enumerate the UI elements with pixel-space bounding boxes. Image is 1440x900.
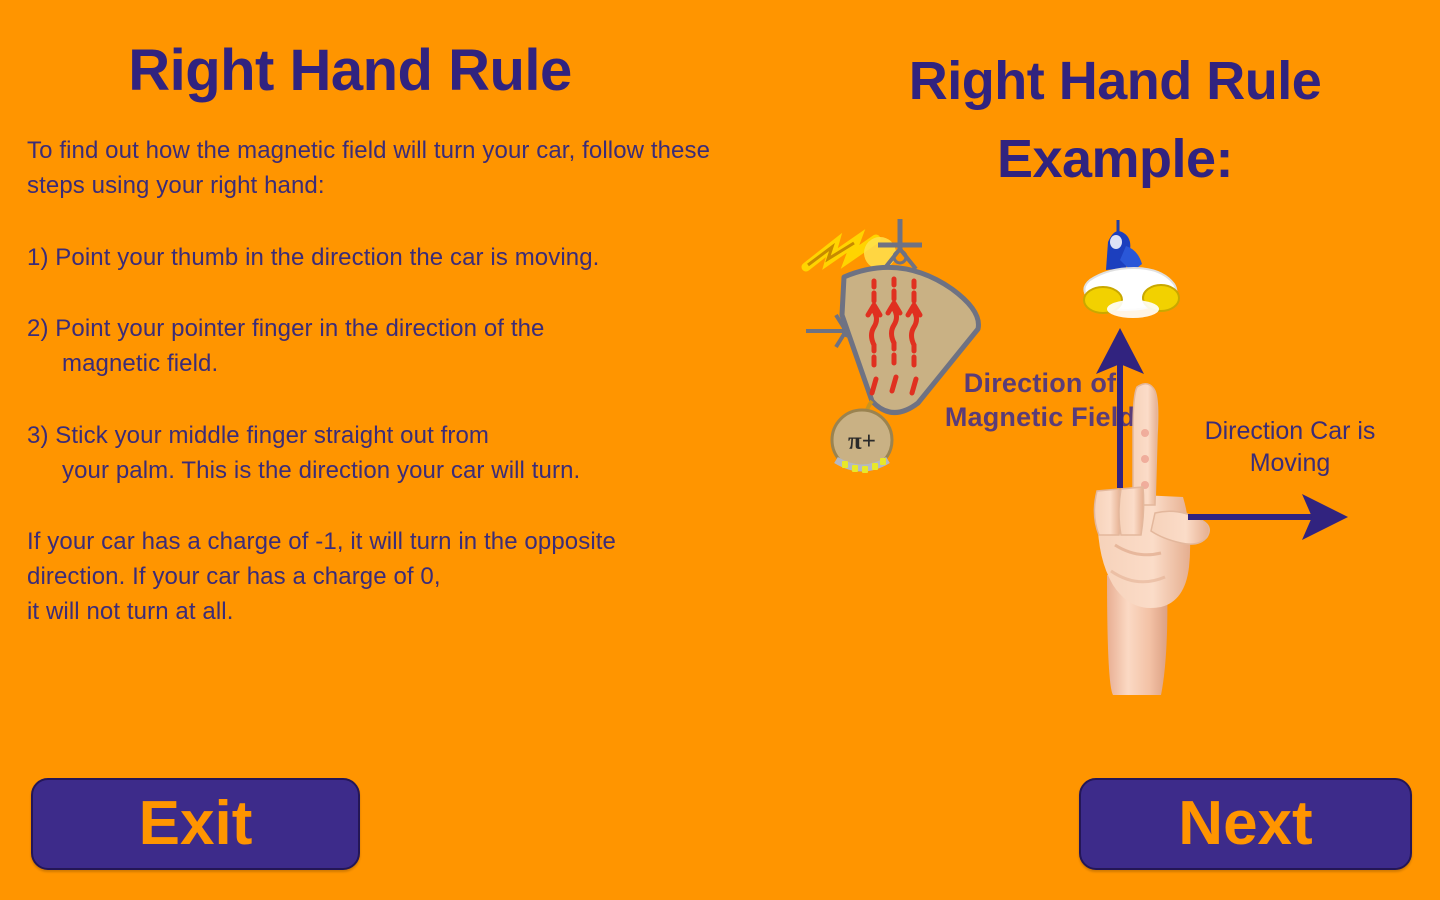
step-item-2: 2) Point your pointer finger in the dire… xyxy=(27,311,767,381)
car-direction-label-line2: Moving xyxy=(1175,447,1405,479)
car-direction-arrow xyxy=(1188,492,1348,542)
exit-button[interactable]: Exit xyxy=(31,778,360,870)
step-item-3: 3) Stick your middle finger straight out… xyxy=(27,418,767,488)
example-panel: Right Hand Rule Example: xyxy=(790,0,1440,760)
example-title-line2: Example: xyxy=(790,120,1440,198)
example-title-line1: Right Hand Rule xyxy=(790,42,1440,120)
step-item-2-line2: magnetic field. xyxy=(27,346,767,381)
spark-icon xyxy=(806,237,896,269)
example-title: Right Hand Rule Example: xyxy=(790,42,1440,199)
charge-token: π+ xyxy=(832,410,892,473)
step-item-1: 1) Point your thumb in the direction the… xyxy=(27,240,767,275)
step-item-3-line2: your palm. This is the direction your ca… xyxy=(27,453,767,488)
closing-line-2: direction. If your car has a charge of 0… xyxy=(27,559,787,594)
car-illustration xyxy=(1078,216,1188,328)
instructions-panel: Right Hand Rule To find out how the magn… xyxy=(0,0,790,760)
closing-line-1: If your car has a charge of -1, it will … xyxy=(27,528,616,555)
page-title: Right Hand Rule xyxy=(0,42,700,100)
slide-canvas: Right Hand Rule To find out how the magn… xyxy=(0,0,1440,900)
magnet-illustration: π+ xyxy=(800,215,1000,475)
closing-paragraph: If your car has a charge of -1, it will … xyxy=(27,524,787,629)
car-direction-label-line1: Direction Car is xyxy=(1175,415,1405,447)
closing-line-3: it will not turn at all. xyxy=(27,594,787,629)
charge-label: π+ xyxy=(848,428,876,455)
step-item-3-line1: 3) Stick your middle finger straight out… xyxy=(27,422,489,449)
next-button[interactable]: Next xyxy=(1079,778,1412,870)
car-direction-label: Direction Car is Moving xyxy=(1175,415,1405,479)
intro-paragraph: To find out how the magnetic field will … xyxy=(27,133,767,203)
step-item-2-line1: 2) Point your pointer finger in the dire… xyxy=(27,315,545,342)
